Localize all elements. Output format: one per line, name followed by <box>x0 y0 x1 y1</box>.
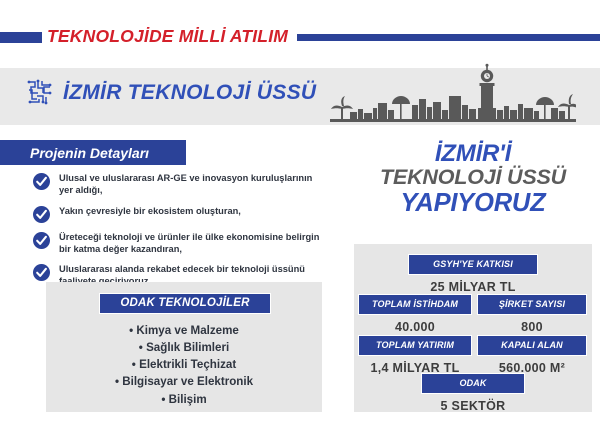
brand-row: İZMİR TEKNOLOJİ ÜSSÜ <box>26 78 316 106</box>
focus-technologies-header: ODAK TEKNOLOJİLER <box>99 293 271 314</box>
list-item-label: Ulusal ve uluslararası AR-GE ve inovasyo… <box>50 172 323 197</box>
headline-line-3: YAPIYORUZ <box>358 190 588 217</box>
stat-value: 560.000 M² <box>477 356 587 375</box>
headline-line-2: TEKNOLOJİ ÜSSÜ <box>358 166 588 189</box>
stat-label: ODAK <box>421 373 525 394</box>
list-item-label: Sağlık Bilimleri <box>146 341 229 354</box>
main-headline: İZMİR'İ TEKNOLOJİ ÜSSÜ YAPIYORUZ <box>358 142 588 216</box>
list-item-label: Elektrikli Teçhizat <box>139 358 236 371</box>
circuit-board-icon <box>26 78 54 106</box>
list-item-label: Kimya ve Malzeme <box>136 324 238 337</box>
stat-label: GSYH'YE KATKISI <box>408 254 538 275</box>
infographic-page: TEKNOLOJİDE MİLLİ ATILIM <box>0 0 600 429</box>
stat-enclosed-area: KAPALI ALAN 560.000 M² <box>477 335 587 375</box>
header-band: İZMİR TEKNOLOJİ ÜSSÜ <box>0 68 600 125</box>
list-item-label: Bilgisayar ve Elektronik <box>122 375 253 388</box>
bullet-dot: • <box>132 358 136 371</box>
stat-total-investment: TOPLAM YATIRIM 1,4 MİLYAR TL <box>358 335 472 375</box>
stat-gsyh-contribution: GSYH'YE KATKISI 25 MİLYAR TL <box>408 254 538 294</box>
stat-label: KAPALI ALAN <box>477 335 587 356</box>
bullet-dot: • <box>139 341 143 354</box>
list-item-label: Yakın çevresiyle bir ekosistem oluşturan… <box>50 205 241 217</box>
list-item: • Bilişim <box>46 391 322 408</box>
list-item: • Kimya ve Malzeme <box>46 322 322 339</box>
focus-technologies-title: ODAK TEKNOLOJİLER <box>120 298 249 310</box>
check-circle-icon <box>33 232 50 249</box>
check-circle-icon <box>33 264 50 281</box>
banner-accent-bar-right <box>297 34 600 41</box>
list-item-label: Üreteceği teknoloji ve ürünler ile ülke … <box>50 231 323 256</box>
stat-value: 1,4 MİLYAR TL <box>358 356 472 375</box>
list-item: • Bilgisayar ve Elektronik <box>46 373 322 390</box>
bullet-dot: • <box>129 324 133 337</box>
bullet-dot: • <box>115 375 119 388</box>
izmir-skyline-silhouette <box>330 63 576 125</box>
stat-focus-sectors: ODAK 5 SEKTÖR <box>421 373 525 413</box>
check-circle-icon <box>33 173 50 190</box>
banner-title: TEKNOLOJİDE MİLLİ ATILIM <box>42 28 297 46</box>
statistics-panel: GSYH'YE KATKISI 25 MİLYAR TL TOPLAM İSTİ… <box>354 244 592 412</box>
stat-value: 40.000 <box>358 315 472 334</box>
stat-label: ŞİRKET SAYISI <box>477 294 587 315</box>
bullet-dot: • <box>161 393 165 406</box>
headline-line-1: İZMİR'İ <box>358 142 588 166</box>
list-item-label: Bilişim <box>169 393 207 406</box>
banner-accent-bar-left <box>0 32 42 43</box>
focus-technologies-list: • Kimya ve Malzeme • Sağlık Bilimleri • … <box>46 322 322 408</box>
check-circle-icon <box>33 206 50 223</box>
list-item: Üreteceği teknoloji ve ürünler ile ülke … <box>33 231 323 256</box>
stat-value: 800 <box>477 315 587 334</box>
project-details-list: Ulusal ve uluslararası AR-GE ve inovasyo… <box>33 172 323 296</box>
project-details-header: Projenin Detayları <box>0 140 186 165</box>
project-details-title: Projenin Detayları <box>0 146 149 160</box>
stat-label: TOPLAM YATIRIM <box>358 335 472 356</box>
list-item: • Sağlık Bilimleri <box>46 339 322 356</box>
list-item: • Elektrikli Teçhizat <box>46 356 322 373</box>
list-item: Yakın çevresiyle bir ekosistem oluşturan… <box>33 205 323 223</box>
brand-title: İZMİR TEKNOLOJİ ÜSSÜ <box>63 82 316 103</box>
top-banner: TEKNOLOJİDE MİLLİ ATILIM <box>0 24 600 50</box>
stat-company-count: ŞİRKET SAYISI 800 <box>477 294 587 334</box>
stat-label: TOPLAM İSTİHDAM <box>358 294 472 315</box>
focus-technologies-panel: ODAK TEKNOLOJİLER • Kimya ve Malzeme • S… <box>46 282 322 412</box>
stat-total-employment: TOPLAM İSTİHDAM 40.000 <box>358 294 472 334</box>
list-item: Ulusal ve uluslararası AR-GE ve inovasyo… <box>33 172 323 197</box>
stat-value: 25 MİLYAR TL <box>408 275 538 294</box>
stat-value: 5 SEKTÖR <box>421 394 525 413</box>
